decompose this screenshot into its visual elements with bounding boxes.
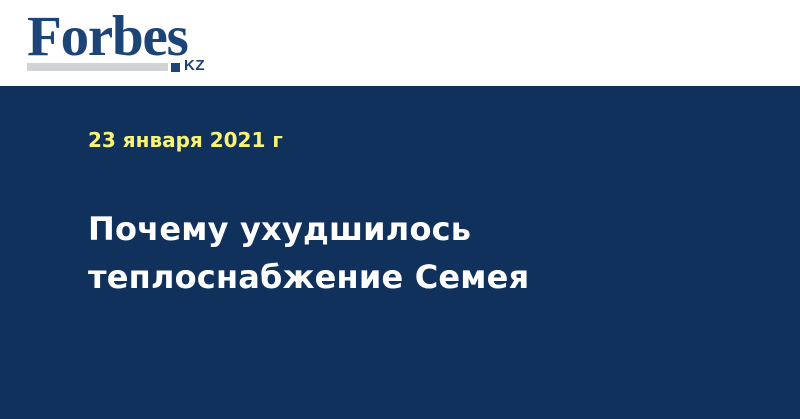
article-date: 23 января 2021 г <box>88 128 283 152</box>
article-card: Forbes KZ 23 января 2021 г Почему ухудши… <box>0 0 800 419</box>
logo-kz-suffix: KZ <box>184 58 205 73</box>
forbes-kz-logo[interactable]: Forbes KZ <box>27 8 227 80</box>
article-hero: 23 января 2021 г Почему ухудшилось тепло… <box>0 86 800 419</box>
forbes-wordmark: Forbes <box>27 8 188 65</box>
article-headline[interactable]: Почему ухудшилось теплоснабжение Семея <box>88 205 728 301</box>
logo-blue-square-icon <box>171 63 180 72</box>
site-header: Forbes KZ <box>0 0 800 86</box>
logo-gray-bar-icon <box>27 63 168 71</box>
